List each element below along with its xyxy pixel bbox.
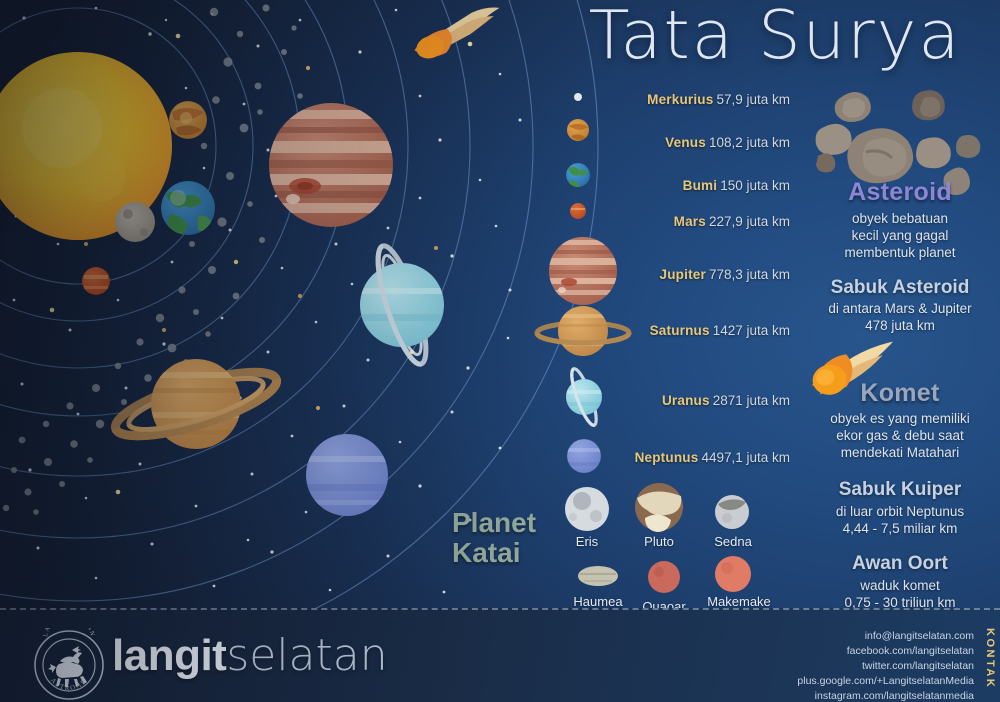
list-item: Bumi150 juta km — [683, 179, 790, 193]
dwarf-item-eris: Eris — [562, 532, 612, 549]
oort-cloud-heading: Awan Oort — [800, 553, 1000, 575]
icon-earth — [566, 163, 590, 192]
contact-twitter[interactable]: twitter.com/langitselatan — [797, 659, 974, 674]
planet-name: Mars — [674, 214, 706, 229]
footer-bar: LANGITSELATAN ASTRO.ID langitselatan inf… — [0, 608, 1000, 702]
planet-name: Uranus — [662, 393, 710, 408]
dwarf-label: Eris — [562, 534, 612, 549]
list-item: Jupiter778,3 juta km — [660, 268, 790, 282]
asteroid-belt-description: di antara Mars & Jupiter 478 juta km — [800, 301, 1000, 335]
dwarf-label: Pluto — [634, 534, 684, 549]
right-info-column: Asteroid obyek bebatuan kecil yang gagal… — [800, 84, 1000, 612]
icon-quaoar — [648, 561, 680, 593]
planet-distance: 2871 juta km — [713, 393, 790, 408]
dwarf-item-haumea: Haumea — [563, 592, 633, 609]
infographic-poster: Tata Surya Merkurius57,9 juta km Venus10… — [0, 0, 1000, 702]
planet-distance: 57,9 juta km — [716, 92, 790, 107]
icon-jupiter — [549, 237, 617, 305]
list-item: Venus108,2 juta km — [665, 136, 790, 150]
comet-icon — [409, 4, 508, 63]
planet-distance: 4497,1 juta km — [701, 450, 790, 465]
contact-instagram[interactable]: instagram.com/langitselatanmedia — [797, 689, 974, 702]
planet-name: Venus — [665, 135, 706, 150]
list-item: Uranus2871 juta km — [662, 394, 790, 408]
planet-distance: 778,3 juta km — [709, 267, 790, 282]
list-item: Mars227,9 juta km — [674, 215, 790, 229]
brand-light: selatan — [226, 630, 387, 681]
icon-pluto — [635, 483, 683, 532]
planet-uranus-orbit — [360, 241, 444, 368]
asteroid-description: obyek bebatuan kecil yang gagal membentu… — [800, 211, 1000, 262]
komet-title: Komet — [800, 379, 1000, 408]
planet-venus-orbit — [169, 101, 207, 139]
icon-makemake — [715, 556, 751, 592]
asteroid-belt-heading: Sabuk Asteroid — [800, 277, 1000, 299]
icon-saturn — [537, 306, 629, 356]
planet-name: Saturnus — [650, 323, 710, 338]
icon-neptune — [567, 439, 601, 473]
planet-distance: 150 juta km — [720, 178, 790, 193]
asteroid-title: Asteroid — [800, 178, 1000, 207]
list-item: Saturnus1427 juta km — [650, 324, 790, 338]
icon-venus — [567, 119, 589, 141]
dwarf-planet-section-title: Planet Katai — [452, 508, 557, 567]
dwarf-item-makemake: Makemake — [697, 592, 781, 609]
brand-bold: langit — [112, 631, 226, 680]
planet-mercury-orbit — [115, 202, 155, 242]
brand-wordmark: langitselatan — [112, 634, 388, 678]
planet-earth-orbit — [161, 181, 215, 236]
dwarf-label: Makemake — [697, 594, 781, 609]
kuiper-belt-heading: Sabuk Kuiper — [800, 479, 1000, 501]
dwarf-label: Sedna — [707, 534, 759, 549]
planet-jupiter-orbit — [269, 103, 393, 227]
planet-name: Bumi — [683, 178, 718, 193]
kuiper-belt-description: di luar orbit Neptunus 4,44 - 7,5 miliar… — [800, 504, 1000, 538]
contact-list: info@langitselatan.com facebook.com/lang… — [797, 629, 974, 702]
planet-name: Merkurius — [647, 92, 713, 107]
dwarf-item-pluto: Pluto — [634, 532, 684, 549]
planet-distance: 108,2 juta km — [709, 135, 790, 150]
list-item: Neptunus4497,1 juta km — [635, 451, 790, 465]
kontak-label: KONTAK — [984, 628, 996, 689]
dwarf-item-sedna: Sedna — [707, 532, 759, 549]
planet-distance: 1427 juta km — [713, 323, 790, 338]
oort-cloud-description: waduk komet 0,75 - 30 triliun km — [800, 578, 1000, 612]
planet-name: Neptunus — [635, 450, 699, 465]
dwarf-label: Haumea — [563, 594, 633, 609]
contact-facebook[interactable]: facebook.com/langitselatan — [797, 644, 974, 659]
planet-mars-orbit — [82, 267, 110, 295]
icon-eris — [565, 487, 609, 531]
planet-saturn-orbit — [110, 359, 283, 449]
list-item: Merkurius57,9 juta km — [647, 93, 790, 107]
planet-scale-icons — [537, 93, 629, 473]
langitselatan-logo-icon: LANGITSELATAN ASTRO.ID — [32, 628, 106, 702]
planet-distance: 227,9 juta km — [709, 214, 790, 229]
page-title: Tata Surya — [560, 0, 990, 74]
contact-email[interactable]: info@langitselatan.com — [797, 629, 974, 644]
icon-haumea — [578, 566, 618, 586]
icon-mars — [570, 203, 586, 219]
planet-neptune-orbit — [306, 434, 388, 516]
contact-googleplus[interactable]: plus.google.com/+LangitselatanMedia — [797, 674, 974, 689]
icon-mercury — [574, 93, 582, 101]
icon-sedna — [715, 495, 749, 529]
planet-name: Jupiter — [660, 267, 706, 282]
icon-uranus — [566, 366, 602, 427]
komet-description: obyek es yang memiliki ekor gas & debu s… — [800, 411, 1000, 462]
